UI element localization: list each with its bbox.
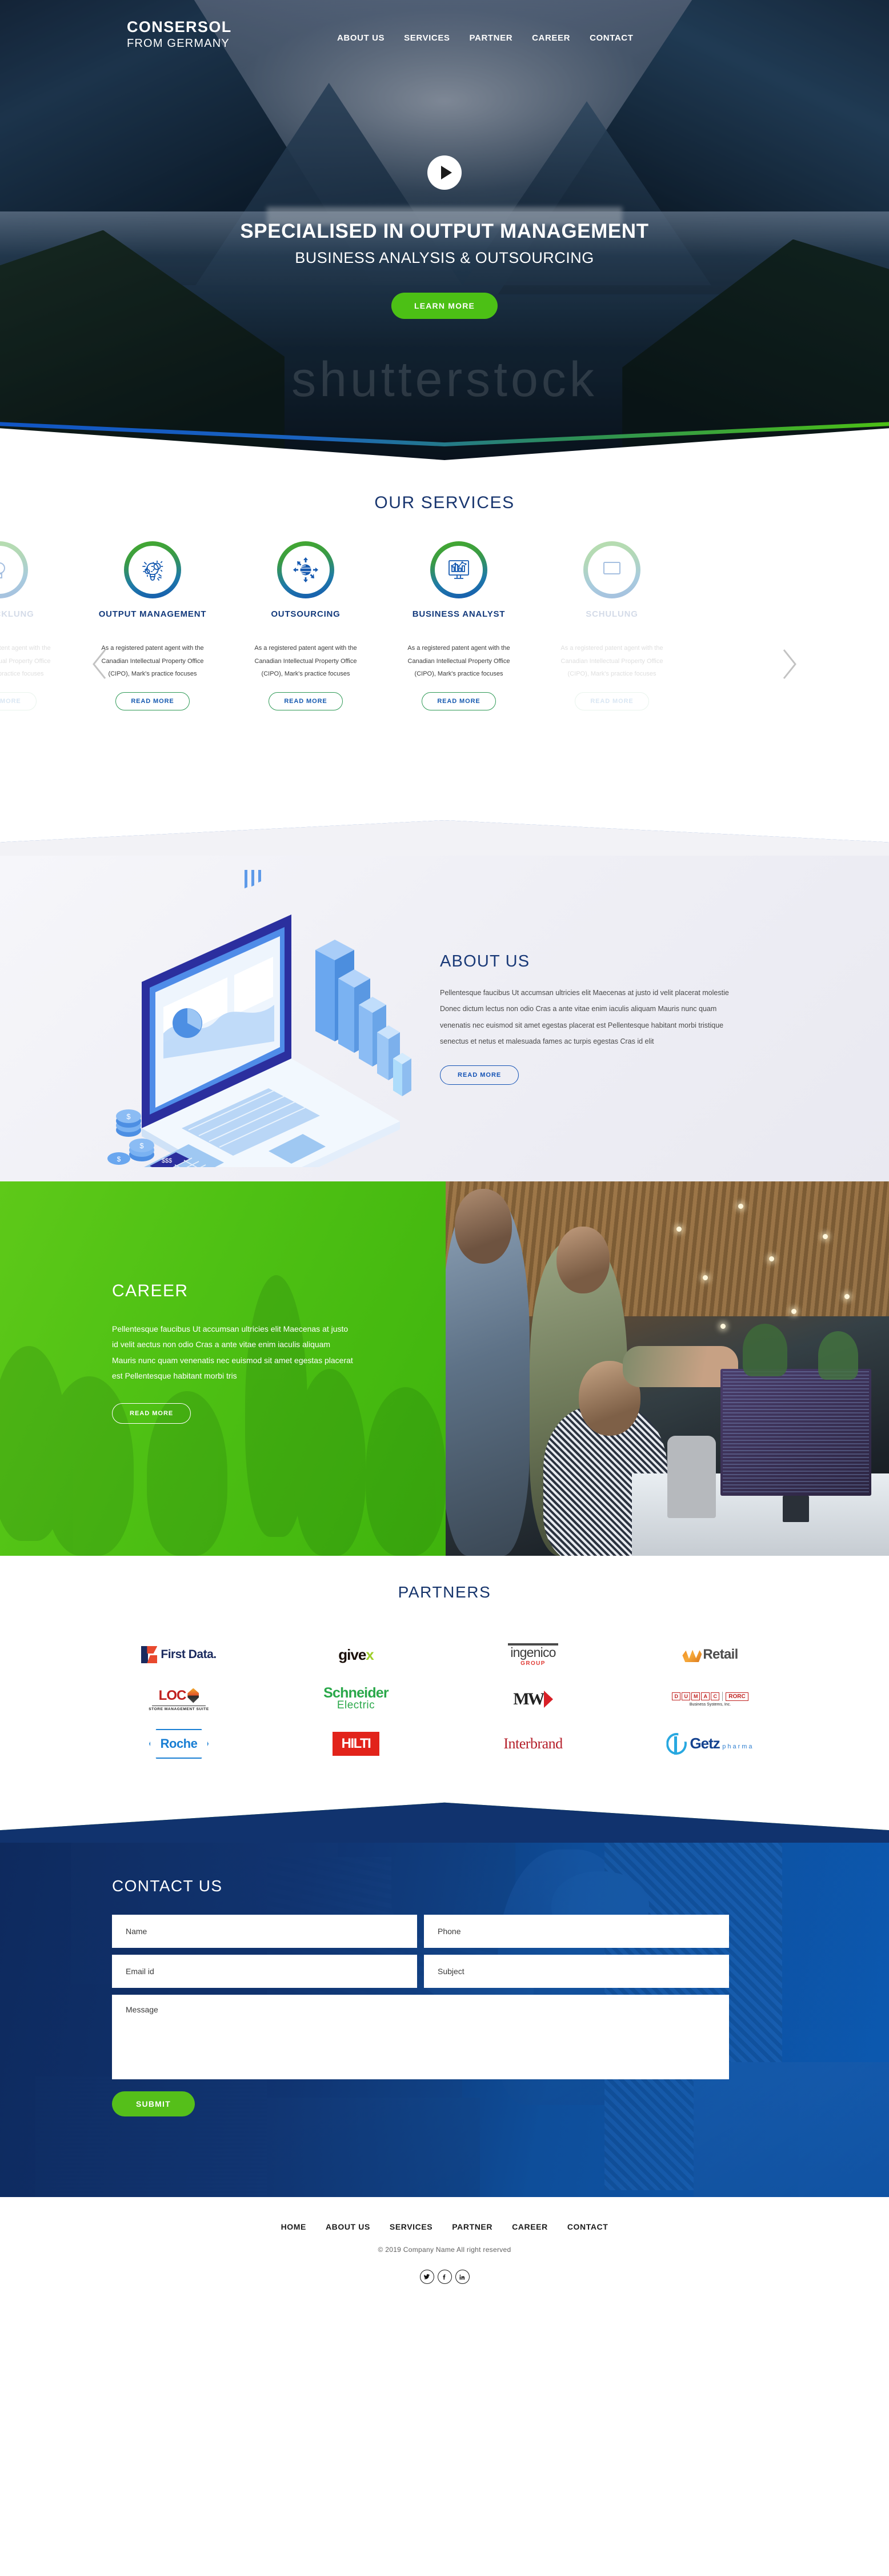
- career-photo: [446, 1181, 889, 1556]
- brand-logo[interactable]: CONSERSOL FROM GERMANY: [127, 19, 232, 50]
- about-content: $ $ $ $$$: [0, 856, 889, 1181]
- service-read-more-button[interactable]: READ MORE: [575, 692, 648, 710]
- partner-name: HILTI: [342, 1736, 371, 1751]
- brand-tagline: FROM GERMANY: [127, 37, 232, 50]
- service-card[interactable]: OUTPUT MANAGEMENT As a registered patent…: [76, 541, 229, 710]
- service-icon: [588, 546, 636, 594]
- nav-item-partner[interactable]: PARTNER: [470, 33, 513, 43]
- hero-subheading: BUSINESS ANALYSIS & OUTSOURCING: [0, 249, 889, 267]
- partner-badge: RORC: [726, 1692, 748, 1701]
- footer-nav-services[interactable]: SERVICES: [390, 2222, 433, 2231]
- partner-logo-getz-pharma[interactable]: Getz pharma: [639, 1726, 782, 1762]
- services-title: OUR SERVICES: [0, 493, 889, 513]
- partner-name: Interbrand: [503, 1735, 562, 1752]
- nav-item-about-us[interactable]: ABOUT US: [337, 33, 385, 43]
- contact-section: CONTACT US SUBMIT: [0, 1798, 889, 2197]
- service-title: OUTPUT MANAGEMENT: [83, 609, 222, 633]
- partner-sub: GROUP: [508, 1660, 558, 1667]
- partner-sub: Electric: [323, 1700, 389, 1712]
- contact-form-block: CONTACT US SUBMIT: [0, 1843, 889, 2116]
- service-card[interactable]: BUSINESS ANALYST As a registered patent …: [382, 541, 535, 710]
- loc-diamond-icon: [187, 1688, 199, 1703]
- service-card[interactable]: OUTSOURCING As a registered patent agent…: [229, 541, 382, 710]
- career-panel: CAREER Pellentesque faucibus Ut accumsan…: [0, 1181, 446, 1556]
- partner-name-accent: x: [366, 1646, 373, 1663]
- service-description: As a registered patent agent with the Ca…: [0, 642, 69, 681]
- partner-logo-first-data[interactable]: First Data.: [107, 1636, 250, 1673]
- partner-name: ingenico: [508, 1646, 558, 1659]
- service-description: As a registered patent agent with the Ca…: [236, 642, 375, 681]
- service-icon-ring: [277, 541, 334, 598]
- services-section: OUR SERVICES: [0, 460, 889, 810]
- partner-name: Schneider: [323, 1687, 389, 1700]
- divider: [152, 1706, 206, 1706]
- getz-g-icon: [666, 1733, 687, 1755]
- career-body: Pellentesque faucibus Ut accumsan ultric…: [112, 1321, 354, 1384]
- service-icon-ring: [583, 541, 640, 598]
- twitter-icon: [423, 2274, 430, 2281]
- partner-sub: STORE MANAGEMENT SUITE: [149, 1707, 209, 1711]
- partner-logo-grid: First Data. givex ingenico GROUP Retail: [107, 1632, 782, 1766]
- svg-text:$: $: [126, 1112, 131, 1121]
- footer: HOME ABOUT US SERVICES PARTNER CAREER CO…: [0, 2197, 889, 2303]
- partner-name: LOC: [159, 1688, 186, 1704]
- partner-logo-ingenico[interactable]: ingenico GROUP: [462, 1636, 604, 1673]
- nav-item-services[interactable]: SERVICES: [404, 33, 450, 43]
- about-section: $ $ $ $$$: [0, 820, 889, 1181]
- chevron-right-icon: [779, 648, 799, 681]
- partner-logo-mw[interactable]: MW: [462, 1681, 604, 1718]
- svg-text:$$$: $$$: [162, 1157, 172, 1164]
- partner-name: Roche: [161, 1736, 198, 1751]
- services-carousel: ENTWICKLUNG As a registered patent agent…: [0, 541, 889, 787]
- partner-logo-interbrand[interactable]: Interbrand: [462, 1726, 604, 1762]
- service-icon: [435, 546, 483, 594]
- partners-title: PARTNERS: [0, 1583, 889, 1601]
- service-icon: [0, 546, 23, 594]
- svg-text:$: $: [117, 1155, 121, 1163]
- subject-input[interactable]: [424, 1955, 729, 1988]
- learn-more-button[interactable]: LEARN MORE: [391, 293, 498, 319]
- partner-logo-schneider-electric[interactable]: Schneider Electric: [285, 1681, 427, 1718]
- service-icon-ring: [124, 541, 181, 598]
- twitter-link[interactable]: [420, 2270, 434, 2284]
- monitor-chart-icon: [599, 557, 625, 583]
- linkedin-link[interactable]: [455, 2270, 470, 2284]
- service-card[interactable]: SCHULUNG As a registered patent agent wi…: [535, 541, 688, 710]
- partner-row: First Data. givex ingenico GROUP Retail: [107, 1632, 782, 1677]
- nav-item-contact[interactable]: CONTACT: [590, 33, 633, 43]
- contact-form: SUBMIT: [112, 1915, 729, 2116]
- service-card[interactable]: ENTWICKLUNG As a registered patent agent…: [0, 541, 76, 710]
- career-read-more-button[interactable]: READ MORE: [112, 1403, 191, 1424]
- contact-top-divider: [0, 1798, 889, 1843]
- partner-logo-hilti[interactable]: HILTI: [285, 1726, 427, 1762]
- service-icon-ring: [0, 541, 28, 598]
- career-title: CAREER: [112, 1281, 354, 1301]
- form-row: [112, 1915, 729, 1948]
- about-top-divider: [0, 820, 889, 856]
- footer-nav-contact[interactable]: CONTACT: [567, 2222, 608, 2231]
- partner-name: Getz: [690, 1735, 719, 1752]
- partner-logo-dumac[interactable]: DUMAC RORC Business Systems, Inc.: [639, 1681, 782, 1718]
- partner-sub: Business Systems, Inc.: [672, 1703, 748, 1707]
- retail-mark-icon: [682, 1647, 702, 1662]
- partner-logo-roche[interactable]: Roche: [107, 1726, 250, 1762]
- isometric-laptop-chart-illustration: $ $ $ $$$: [0, 870, 434, 1167]
- partner-name: MW: [513, 1690, 543, 1709]
- email-input[interactable]: [112, 1955, 417, 1988]
- globe-arrows-icon: [291, 556, 320, 584]
- footer-navigation: HOME ABOUT US SERVICES PARTNER CAREER CO…: [0, 2222, 889, 2231]
- service-title: BUSINESS ANALYST: [389, 609, 528, 633]
- partner-row: LOC STORE MANAGEMENT SUITE Schneider Ele…: [107, 1677, 782, 1722]
- monitor-chart-icon: [444, 556, 473, 584]
- contact-title: CONTACT US: [112, 1877, 889, 1895]
- hero-heading: SPECIALISED IN OUTPUT MANAGEMENT: [0, 220, 889, 243]
- facebook-link[interactable]: [438, 2270, 452, 2284]
- partner-row: Roche HILTI Interbrand Getz pharma: [107, 1722, 782, 1766]
- service-title: ENTWICKLUNG: [0, 609, 69, 633]
- partner-logo-givex[interactable]: givex: [285, 1636, 427, 1673]
- chevron-left-icon: [90, 648, 110, 681]
- about-read-more-button[interactable]: READ MORE: [440, 1065, 519, 1085]
- nav-item-career[interactable]: CAREER: [532, 33, 570, 43]
- partner-name: First Data: [161, 1648, 213, 1661]
- footer-nav-about-us[interactable]: ABOUT US: [326, 2222, 370, 2231]
- service-title: SCHULUNG: [542, 609, 682, 633]
- first-data-mark-icon: [141, 1646, 157, 1663]
- carousel-next-button[interactable]: [779, 648, 799, 681]
- partner-logo-loc[interactable]: LOC STORE MANAGEMENT SUITE: [107, 1681, 250, 1718]
- about-title: ABOUT US: [440, 952, 731, 971]
- partner-name: Retail: [703, 1647, 738, 1663]
- linkedin-icon: [459, 2274, 466, 2281]
- mw-arrow-icon: [544, 1691, 553, 1708]
- career-section: CAREER Pellentesque faucibus Ut accumsan…: [0, 1181, 889, 1556]
- name-input[interactable]: [112, 1915, 417, 1948]
- footer-nav-career[interactable]: CAREER: [512, 2222, 548, 2231]
- stock-watermark: shutterstock: [0, 352, 889, 408]
- hero-section: shutterstock CONSERSOL FROM GERMANY ABOU…: [0, 0, 889, 460]
- service-icon-ring: [430, 541, 487, 598]
- footer-nav-home[interactable]: HOME: [281, 2222, 306, 2231]
- divider-fill: [0, 1798, 889, 1843]
- service-icon: [129, 546, 177, 594]
- career-text-block: CAREER Pellentesque faucibus Ut accumsan…: [0, 1181, 354, 1424]
- social-links: [0, 2270, 889, 2284]
- copyright-text: © 2019 Company Name All right reserved: [0, 2246, 889, 2254]
- partner-name: givex: [338, 1646, 374, 1664]
- gear-bulb-icon: [138, 556, 167, 584]
- service-read-more-button[interactable]: READ MORE: [115, 692, 189, 710]
- partner-name-suffix: .: [213, 1648, 216, 1661]
- about-body: Pellentesque faucibus Ut accumsan ultric…: [440, 985, 731, 1049]
- brand-name: CONSERSOL: [127, 19, 232, 35]
- carousel-track: ENTWICKLUNG As a registered patent agent…: [0, 541, 889, 710]
- phone-input[interactable]: [424, 1915, 729, 1948]
- partner-sub: pharma: [722, 1743, 754, 1750]
- message-textarea[interactable]: [112, 1995, 729, 2079]
- contact-content: CONTACT US SUBMIT: [0, 1843, 889, 2197]
- svg-text:$: $: [139, 1141, 144, 1150]
- about-illustration: $ $ $ $$$: [0, 870, 434, 1167]
- play-video-button[interactable]: [427, 155, 462, 190]
- about-text-block: ABOUT US Pellentesque faucibus Ut accums…: [434, 952, 731, 1085]
- gear-bulb-icon: [0, 557, 13, 583]
- footer-nav-partner[interactable]: PARTNER: [452, 2222, 492, 2231]
- service-description: As a registered patent agent with the Ca…: [542, 642, 682, 681]
- submit-button[interactable]: SUBMIT: [112, 2091, 195, 2116]
- main-navigation: ABOUT US SERVICES PARTNER CAREER CONTACT: [337, 33, 634, 43]
- service-read-more-button[interactable]: READ MORE: [0, 692, 37, 710]
- partner-logo-retail[interactable]: Retail: [639, 1636, 782, 1673]
- divider-fill: [0, 820, 889, 856]
- play-icon: [441, 166, 452, 179]
- form-row: [112, 1955, 729, 1988]
- service-description: As a registered patent agent with the Ca…: [389, 642, 528, 681]
- service-read-more-button[interactable]: READ MORE: [269, 692, 342, 710]
- partners-section: PARTNERS First Data. givex ingenico GROU…: [0, 1556, 889, 1798]
- carousel-prev-button[interactable]: [90, 648, 110, 681]
- service-icon: [282, 546, 330, 594]
- service-title: OUTSOURCING: [236, 609, 375, 633]
- facebook-icon: [441, 2274, 448, 2281]
- service-read-more-button[interactable]: READ MORE: [422, 692, 495, 710]
